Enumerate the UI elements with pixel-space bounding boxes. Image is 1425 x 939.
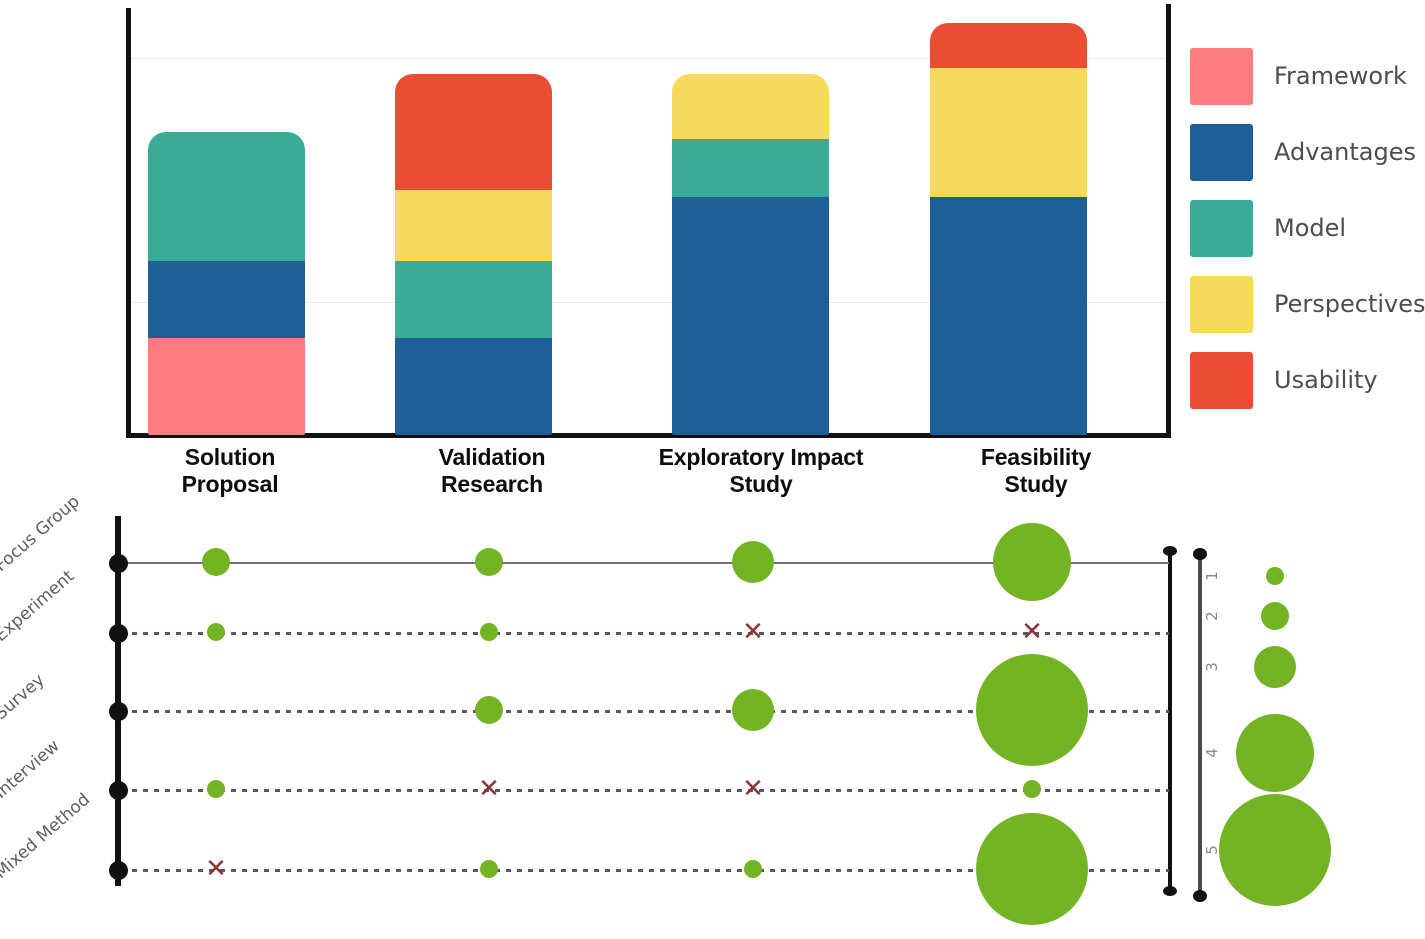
legend-swatch-advantages bbox=[1190, 124, 1253, 181]
size-legend-cap-top bbox=[1193, 548, 1207, 560]
absent-marker-experiment-exploratory-impact-study[interactable]: ✕ bbox=[742, 619, 764, 645]
bar-segment-advantages[interactable] bbox=[672, 197, 829, 435]
cat-label-feasibility-study: Feasibility Study bbox=[936, 444, 1136, 497]
legend-item-perspectives[interactable]: Perspectives bbox=[1190, 266, 1425, 342]
size-legend-label-4: 4 bbox=[1203, 748, 1221, 758]
bar-segment-advantages[interactable] bbox=[930, 197, 1087, 435]
row-label-focus-group: Focus Group bbox=[0, 492, 84, 576]
bubble-focus-group-exploratory-impact-study[interactable] bbox=[732, 541, 774, 583]
legend-swatch-framework bbox=[1190, 48, 1253, 105]
cat-line-2: Proposal bbox=[182, 471, 279, 497]
size-legend-bubble-3 bbox=[1254, 646, 1296, 688]
cat-line-2: Study bbox=[730, 471, 793, 497]
row-label-experiment: Experiment bbox=[0, 566, 78, 646]
legend-item-usability[interactable]: Usability bbox=[1190, 342, 1425, 418]
row-line-experiment bbox=[121, 632, 1169, 635]
bubble-interview-feasibility-study[interactable] bbox=[1023, 780, 1041, 798]
bar-solution-proposal[interactable] bbox=[148, 132, 305, 435]
legend-item-framework[interactable]: Framework bbox=[1190, 38, 1425, 114]
row-axis-dot-survey bbox=[109, 702, 128, 721]
bubble-right-axis-cap-bottom bbox=[1163, 886, 1177, 896]
bar-segment-model[interactable] bbox=[148, 132, 305, 261]
bubble-focus-group-solution-proposal[interactable] bbox=[202, 548, 230, 576]
row-axis-dot-experiment bbox=[109, 624, 128, 643]
bar-segment-advantages[interactable] bbox=[148, 261, 305, 338]
bar-segment-model[interactable] bbox=[672, 139, 829, 197]
row-axis-dot-interview bbox=[109, 781, 128, 800]
cat-line-2: Study bbox=[1005, 471, 1068, 497]
row-label-survey: Survey bbox=[0, 670, 49, 724]
cat-line-1: Validation bbox=[439, 444, 546, 470]
size-legend-label-1: 1 bbox=[1203, 571, 1221, 581]
cat-line-2: Research bbox=[441, 471, 543, 497]
bubble-survey-validation-research[interactable] bbox=[475, 696, 503, 724]
bubble-size-legend: 12345 bbox=[1185, 540, 1425, 939]
size-legend-label-3: 3 bbox=[1203, 662, 1221, 672]
row-label-interview: Interview bbox=[0, 736, 64, 803]
bar-segment-advantages[interactable] bbox=[395, 338, 552, 435]
bubble-experiment-solution-proposal[interactable] bbox=[207, 623, 225, 641]
bubble-mixed-method-exploratory-impact-study[interactable] bbox=[744, 860, 762, 878]
legend-label-framework: Framework bbox=[1274, 62, 1407, 90]
bubble-focus-group-validation-research[interactable] bbox=[475, 548, 503, 576]
color-legend: Framework Advantages Model Perspectives … bbox=[1190, 38, 1425, 418]
bar-segment-perspectives[interactable] bbox=[672, 74, 829, 138]
bar-segment-framework[interactable] bbox=[148, 338, 305, 435]
bar-exploratory-impact-study[interactable] bbox=[672, 74, 829, 435]
bubble-mixed-method-feasibility-study[interactable] bbox=[976, 813, 1088, 925]
category-labels: Solution Proposal Validation Research Ex… bbox=[126, 444, 1171, 506]
absent-marker-interview-exploratory-impact-study[interactable]: ✕ bbox=[742, 776, 764, 802]
legend-item-advantages[interactable]: Advantages bbox=[1190, 114, 1425, 190]
bubble-focus-group-feasibility-study[interactable] bbox=[993, 523, 1071, 601]
bubble-interview-solution-proposal[interactable] bbox=[207, 780, 225, 798]
bar-validation-research[interactable] bbox=[395, 74, 552, 435]
size-legend-cap-bottom bbox=[1193, 890, 1207, 902]
size-legend-label-2: 2 bbox=[1203, 611, 1221, 621]
cat-line-1: Solution bbox=[185, 444, 275, 470]
bar-feasibility-study[interactable] bbox=[930, 23, 1087, 435]
bar-segment-perspectives[interactable] bbox=[930, 68, 1087, 197]
bubble-survey-feasibility-study[interactable] bbox=[976, 654, 1088, 766]
right-axis-line bbox=[1166, 4, 1171, 438]
size-legend-axis-line bbox=[1198, 554, 1202, 896]
size-legend-bubble-4 bbox=[1236, 714, 1314, 792]
bubble-experiment-validation-research[interactable] bbox=[480, 623, 498, 641]
bubble-mixed-method-validation-research[interactable] bbox=[480, 860, 498, 878]
size-legend-bubble-1 bbox=[1266, 567, 1284, 585]
cat-label-exploratory-impact-study: Exploratory Impact Study bbox=[616, 444, 906, 497]
legend-label-usability: Usability bbox=[1274, 366, 1378, 394]
bubble-survey-exploratory-impact-study[interactable] bbox=[732, 689, 774, 731]
cat-label-solution-proposal: Solution Proposal bbox=[130, 444, 330, 497]
size-legend-bubble-2 bbox=[1261, 602, 1289, 630]
legend-label-advantages: Advantages bbox=[1274, 138, 1416, 166]
row-axis-dot-mixed-method bbox=[109, 861, 128, 880]
legend-swatch-perspectives bbox=[1190, 276, 1253, 333]
absent-marker-mixed-method-solution-proposal[interactable]: ✕ bbox=[205, 856, 227, 882]
bar-segment-model[interactable] bbox=[395, 261, 552, 338]
legend-label-model: Model bbox=[1274, 214, 1346, 242]
stacked-bar-chart: 6 5 4 3 2 1 Solution Proposal Validation… bbox=[0, 0, 1180, 440]
bubble-right-axis-cap-top bbox=[1163, 546, 1177, 556]
bar-segment-usability[interactable] bbox=[395, 74, 552, 190]
absent-marker-interview-validation-research[interactable]: ✕ bbox=[478, 776, 500, 802]
bubble-right-axis-line bbox=[1168, 550, 1172, 892]
legend-swatch-model bbox=[1190, 200, 1253, 257]
cat-line-1: Feasibility bbox=[981, 444, 1091, 470]
bar-segment-perspectives[interactable] bbox=[395, 190, 552, 261]
y-axis-line bbox=[126, 8, 131, 436]
cat-line-1: Exploratory Impact bbox=[659, 444, 864, 470]
bubble-matrix-chart: ✕✕✕✕✕ Focus GroupExperimentSurveyIntervi… bbox=[0, 506, 1180, 939]
cat-label-validation-research: Validation Research bbox=[392, 444, 592, 497]
row-axis-dot-focus-group bbox=[109, 554, 128, 573]
row-label-mixed-method: Mixed Method bbox=[0, 790, 94, 883]
row-line-interview bbox=[121, 789, 1169, 792]
legend-item-model[interactable]: Model bbox=[1190, 190, 1425, 266]
absent-marker-experiment-feasibility-study[interactable]: ✕ bbox=[1021, 619, 1043, 645]
legend-label-perspectives: Perspectives bbox=[1274, 290, 1425, 318]
size-legend-bubble-5 bbox=[1219, 794, 1331, 906]
legend-swatch-usability bbox=[1190, 352, 1253, 409]
bar-segment-usability[interactable] bbox=[930, 23, 1087, 68]
